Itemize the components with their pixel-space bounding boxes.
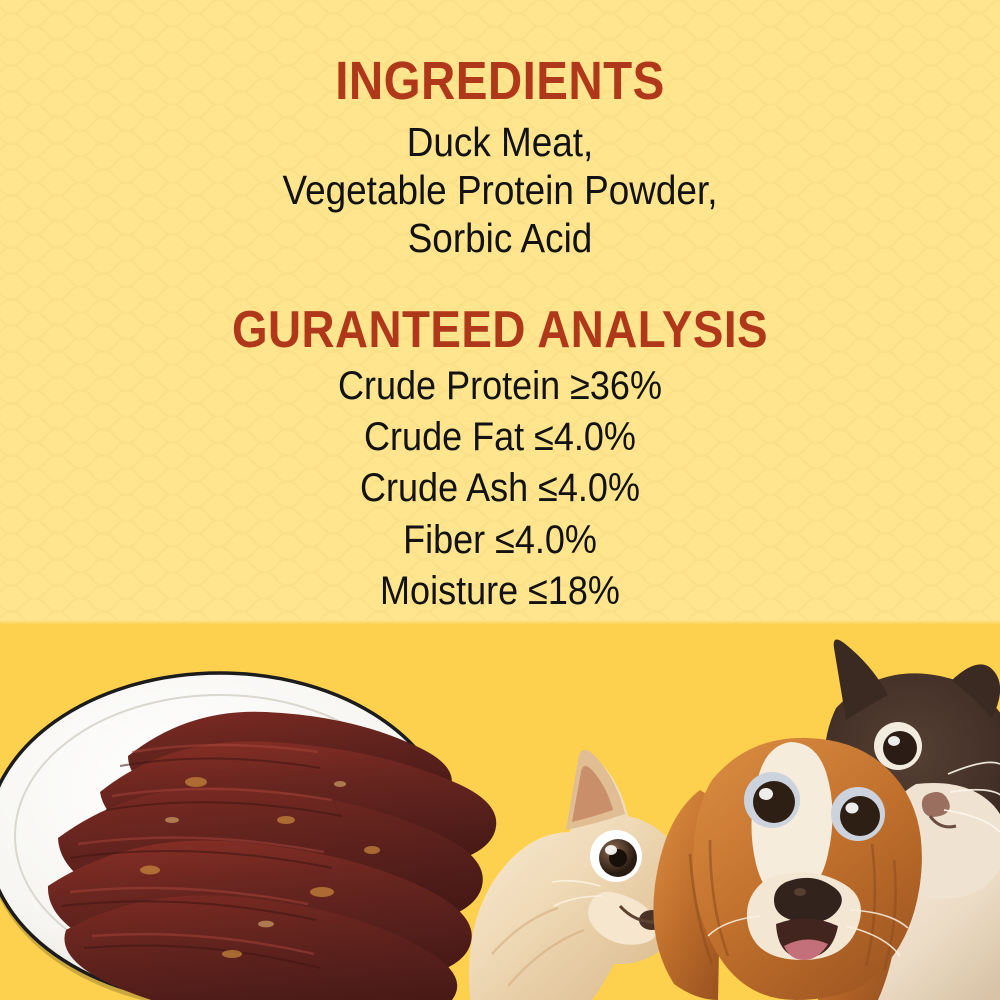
ingredient-line-1: Duck Meat, — [50, 118, 950, 166]
product-label-image: INGREDIENTS Duck Meat, Vegetable Protein… — [0, 0, 1000, 1000]
analysis-row-fiber: Fiber ≤4.0% — [50, 517, 950, 563]
product-photo-band — [0, 624, 1000, 1000]
ingredient-line-3: Sorbic Acid — [50, 214, 950, 262]
analysis-row-crude-ash: Crude Ash ≤4.0% — [50, 465, 950, 511]
guaranteed-analysis-heading: GURANTEED ANALYSIS — [60, 302, 940, 358]
ingredient-line-2: Vegetable Protein Powder, — [50, 166, 950, 214]
ingredients-heading: INGREDIENTS — [60, 52, 940, 110]
analysis-row-crude-fat: Crude Fat ≤4.0% — [50, 414, 950, 460]
analysis-row-moisture: Moisture ≤18% — [50, 568, 950, 614]
analysis-row-crude-protein: Crude Protein ≥36% — [50, 363, 950, 409]
nutrition-info-panel: INGREDIENTS Duck Meat, Vegetable Protein… — [0, 0, 1000, 624]
